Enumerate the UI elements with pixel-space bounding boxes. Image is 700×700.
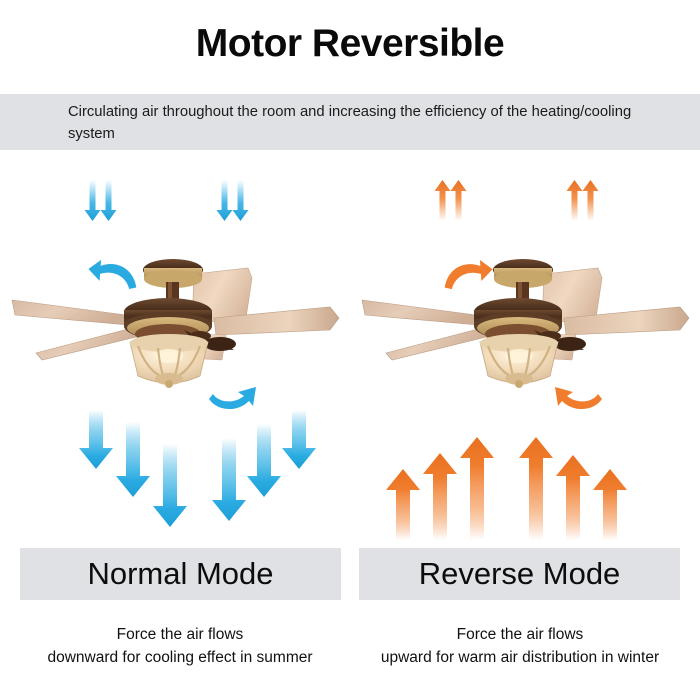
caption-reverse-line1: Force the air flows <box>350 623 690 646</box>
panel-reverse-mode <box>350 150 700 540</box>
mode-label-reverse-text: Reverse Mode <box>419 556 621 592</box>
caption-normal-line2: downward for cooling effect in summer <box>10 646 350 669</box>
rotation-arrow-ccw-bottom <box>203 373 261 415</box>
mode-label-reverse: Reverse Mode <box>359 548 680 600</box>
caption-normal: Force the air flows downward for cooling… <box>10 623 350 669</box>
ceiling-fan-illustration-reverse <box>358 238 693 398</box>
subtitle-text: Circulating air throughout the room and … <box>68 101 648 145</box>
caption-normal-line1: Force the air flows <box>10 623 350 646</box>
mode-label-normal: Normal Mode <box>20 548 341 600</box>
rotation-arrow-cw-bottom <box>550 373 608 415</box>
page-title: Motor Reversible <box>0 22 700 66</box>
output-arrow-group-down <box>0 410 350 540</box>
caption-reverse: Force the air flows upward for warm air … <box>350 623 690 669</box>
output-arrow-group-up <box>350 410 700 540</box>
caption-reverse-line2: upward for warm air distribution in wint… <box>350 646 690 669</box>
mode-label-normal-text: Normal Mode <box>87 556 273 592</box>
intake-arrow-group-right <box>350 178 700 230</box>
ceiling-fan-illustration-normal <box>8 238 343 398</box>
intake-arrow-group-left <box>0 178 350 230</box>
panels-container <box>0 150 700 540</box>
panel-normal-mode <box>0 150 350 540</box>
product-infographic: Motor Reversible Circulating air through… <box>0 0 700 700</box>
